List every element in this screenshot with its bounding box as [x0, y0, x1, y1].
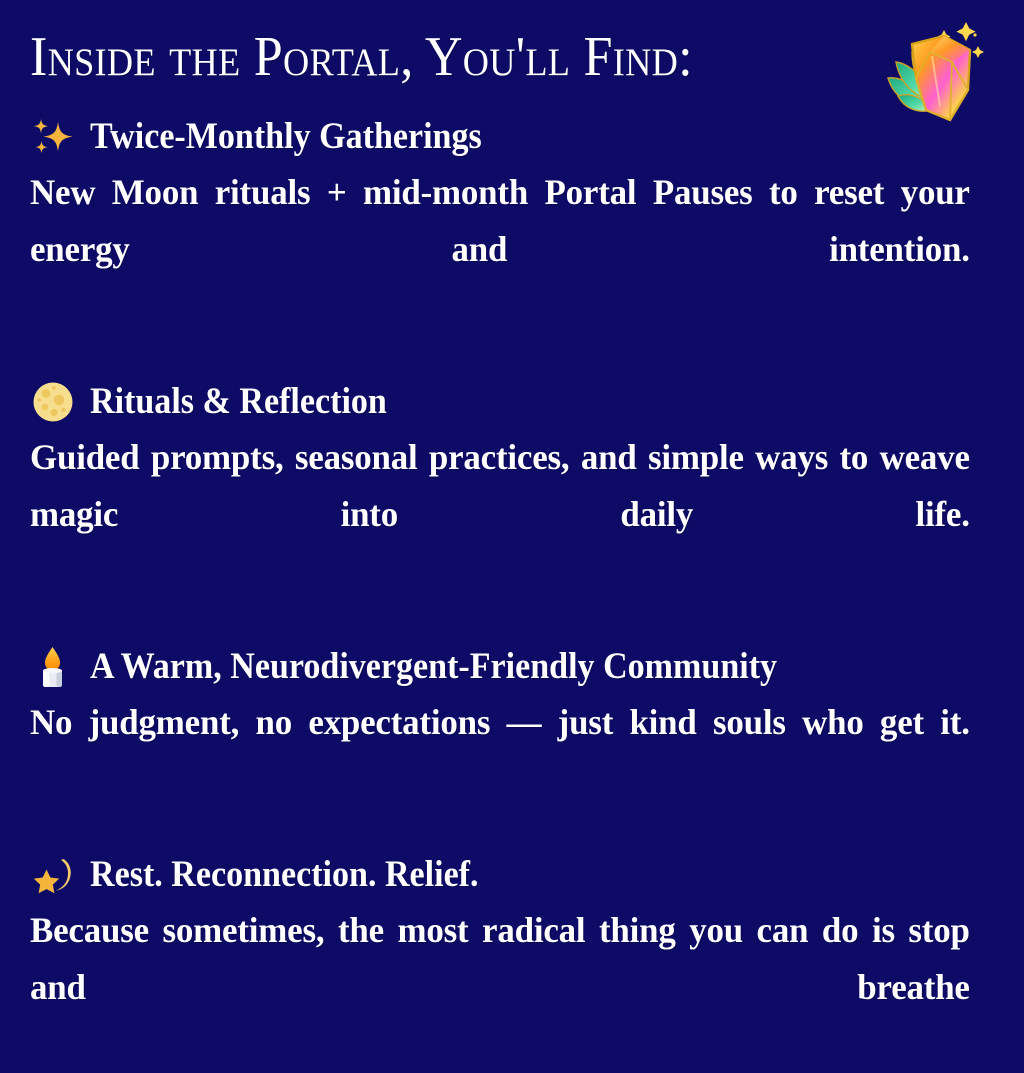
feature-section-2: Rituals & Reflection Guided prompts, sea…	[30, 375, 994, 600]
feature-heading-4: Rest. Reconnection. Relief.	[30, 848, 994, 902]
feature-heading-1: Twice-Monthly Gatherings	[30, 110, 994, 164]
poster-canvas: Inside the Portal, You'll Find:	[0, 0, 1024, 1024]
feature-heading-3: A Warm, Neurodivergent-Friendly Communit…	[30, 640, 994, 694]
feature-heading-2: Rituals & Reflection	[30, 375, 994, 429]
feature-body-1: New Moon rituals + mid-month Portal Paus…	[30, 164, 970, 335]
page-title-row: Inside the Portal, You'll Find:	[30, 0, 994, 110]
feature-section-3: A Warm, Neurodivergent-Friendly Communit…	[30, 640, 994, 808]
feature-title-1: Twice-Monthly Gatherings	[90, 116, 482, 158]
feature-section-1: Twice-Monthly Gatherings New Moon ritual…	[30, 110, 994, 335]
feature-section-4: Rest. Reconnection. Relief. Because some…	[30, 848, 994, 1073]
feature-body-3: No judgment, no expectations — just kind…	[30, 694, 970, 808]
dizzy-star-icon	[30, 852, 76, 898]
page-title: Inside the Portal, You'll Find:	[30, 28, 693, 86]
feature-title-4: Rest. Reconnection. Relief.	[90, 854, 479, 896]
feature-body-4: Because sometimes, the most radical thin…	[30, 902, 970, 1073]
full-moon-icon	[30, 379, 76, 425]
feature-title-2: Rituals & Reflection	[90, 381, 387, 423]
feature-title-3: A Warm, Neurodivergent-Friendly Communit…	[90, 646, 777, 688]
feature-body-2: Guided prompts, seasonal practices, and …	[30, 429, 970, 600]
candle-icon	[30, 644, 76, 690]
sparkles-icon	[30, 114, 76, 160]
crystal-ball-gem-icon	[880, 16, 992, 128]
